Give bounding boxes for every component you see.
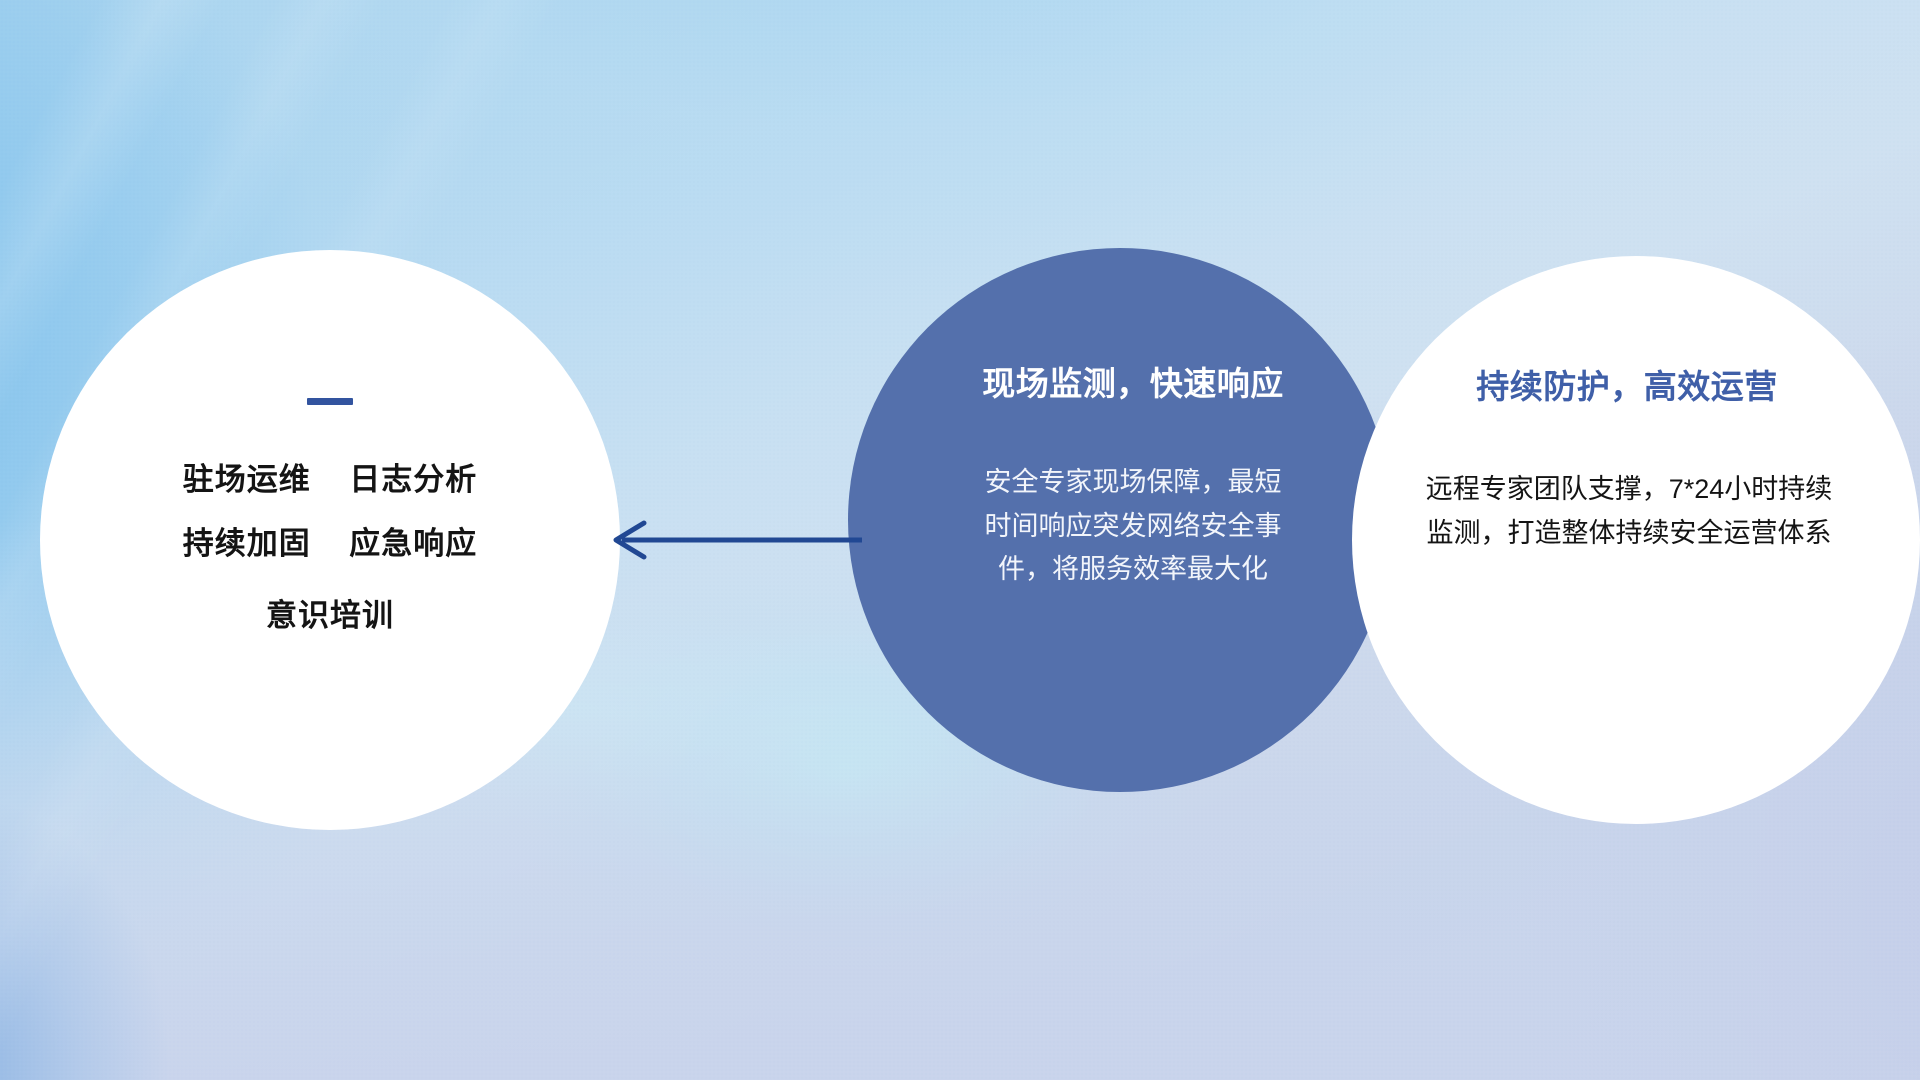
arrow-left-icon <box>600 510 870 570</box>
slide-canvas: 驻场运维 日志分析 持续加固 应急响应 意识培训 现场监测，快速响应 安全专家现… <box>0 0 1920 1080</box>
middle-blue-circle <box>848 248 1392 792</box>
right-white-circle <box>1352 256 1920 824</box>
left-white-circle <box>40 250 620 830</box>
